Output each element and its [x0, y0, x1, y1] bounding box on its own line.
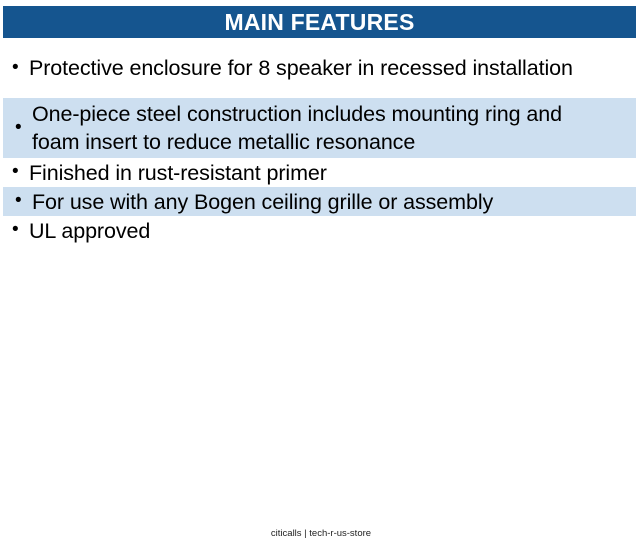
list-item: • Finished in rust-resistant primer — [0, 158, 642, 187]
bullet-icon: • — [12, 58, 29, 77]
list-item-label: For use with any Bogen ceiling grille or… — [32, 188, 630, 216]
list-item-label: One-piece steel construction includes mo… — [32, 100, 604, 156]
list-item-label: Protective enclosure for 8 speaker in re… — [29, 54, 601, 82]
footer-credit: citicalls | tech-r-us-store — [0, 528, 642, 540]
list-item: • One-piece steel construction includes … — [3, 98, 636, 158]
main-features-header-band: MAIN FEATURES — [3, 6, 636, 38]
list-item: • UL approved — [0, 216, 642, 245]
main-features-list: • Protective enclosure for 8 speaker in … — [0, 38, 642, 245]
bullet-icon: • — [15, 118, 32, 137]
bullet-icon: • — [15, 191, 32, 210]
list-item: • Protective enclosure for 8 speaker in … — [0, 38, 642, 98]
bullet-icon: • — [12, 220, 29, 239]
bullet-icon: • — [12, 162, 29, 181]
list-item-label: UL approved — [29, 217, 636, 245]
slide-canvas: MAIN FEATURES • Protective enclosure for… — [0, 0, 642, 551]
list-item-label: Finished in rust-resistant primer — [29, 159, 636, 187]
page-title: MAIN FEATURES — [224, 11, 414, 34]
list-item: • For use with any Bogen ceiling grille … — [3, 187, 636, 216]
